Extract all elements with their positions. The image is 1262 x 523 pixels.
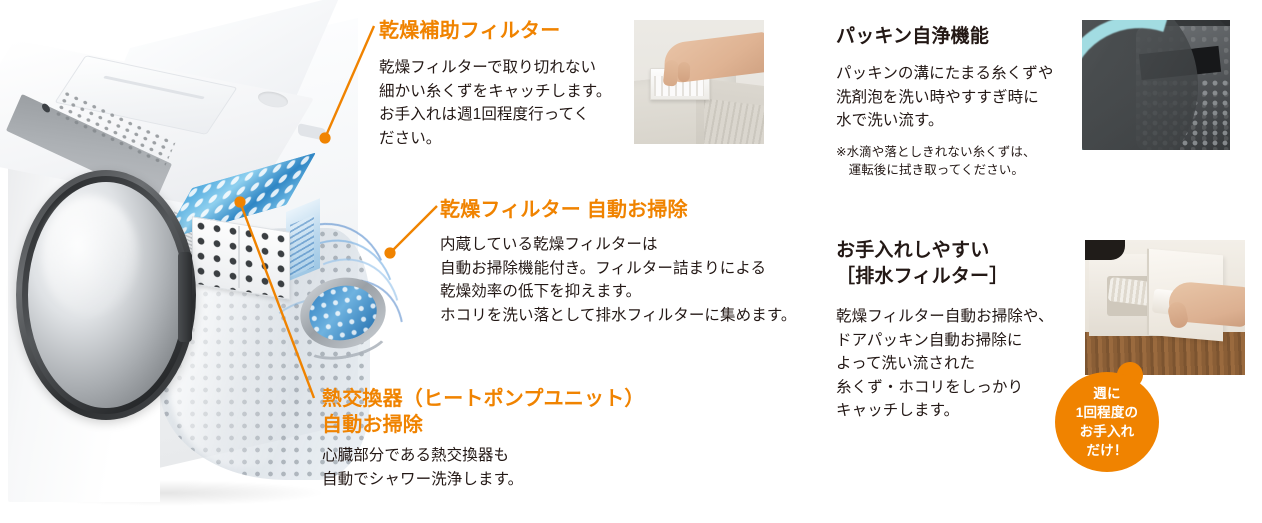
door-glass-highlight <box>42 196 138 316</box>
body-heat-exchanger-auto-clean: 心臓部分である熱交換器も 自動でシャワー洗浄します。 <box>322 444 742 491</box>
photo-drain-filter <box>1085 240 1245 375</box>
heading-heat-exchanger-auto-clean: 熱交換器（ヒートポンプユニット） 自動お掃除 <box>322 386 742 438</box>
door-hinge <box>178 252 192 342</box>
body-easy-care-drain-filter: 乾燥フィルター自動お掃除や、 ドアパッキン自動お掃除に よって洗い流された 糸く… <box>836 305 1086 423</box>
photo-auxiliary-filter <box>634 20 764 144</box>
heat-exchanger-perforated-front <box>192 216 290 300</box>
photo-door-edge <box>1085 240 1125 260</box>
heat-exchanger-side-water <box>290 215 314 277</box>
photo-finger <box>663 59 680 86</box>
heading-aux-dry-filter: 乾燥補助フィルター <box>379 18 629 44</box>
note-packing-self-clean: ※水滴や落としきれない糸くずは、 運転後に拭き取ってください。 <box>836 143 1086 179</box>
body-packing-self-clean: パッキンの溝にたまる糸くずや 洗剤泡を洗い時やすすぎ時に 水で洗い流す。 <box>836 62 1076 133</box>
heading-packing-self-clean: パッキン自浄機能 <box>836 24 1076 50</box>
heading-easy-care-drain-filter: お手入れしやすい ［排水フィルター］ <box>836 238 1086 290</box>
infographic-page: 週に 1回程度の お手入れ だけ！ 乾燥補助フィルター 乾燥フィルターで取り切れ… <box>0 0 1262 523</box>
heat-exchanger-unit-part <box>178 190 328 298</box>
body-aux-dry-filter: 乾燥フィルターで取り切れない 細かい糸くずをキャッチします。 お手入れは週1回程… <box>379 56 629 150</box>
photo-machine-vents <box>704 98 764 144</box>
heat-exchanger-seam <box>238 226 240 288</box>
heading-dry-filter-auto-clean: 乾燥フィルター 自動お掃除 <box>440 197 840 223</box>
photo-finger <box>678 62 691 82</box>
photo-door-packing <box>1082 20 1230 150</box>
body-dry-filter-auto-clean: 内蔵している乾燥フィルターは 自動お掃除機能付き。フィルター詰まりによる 乾燥効… <box>440 233 840 327</box>
